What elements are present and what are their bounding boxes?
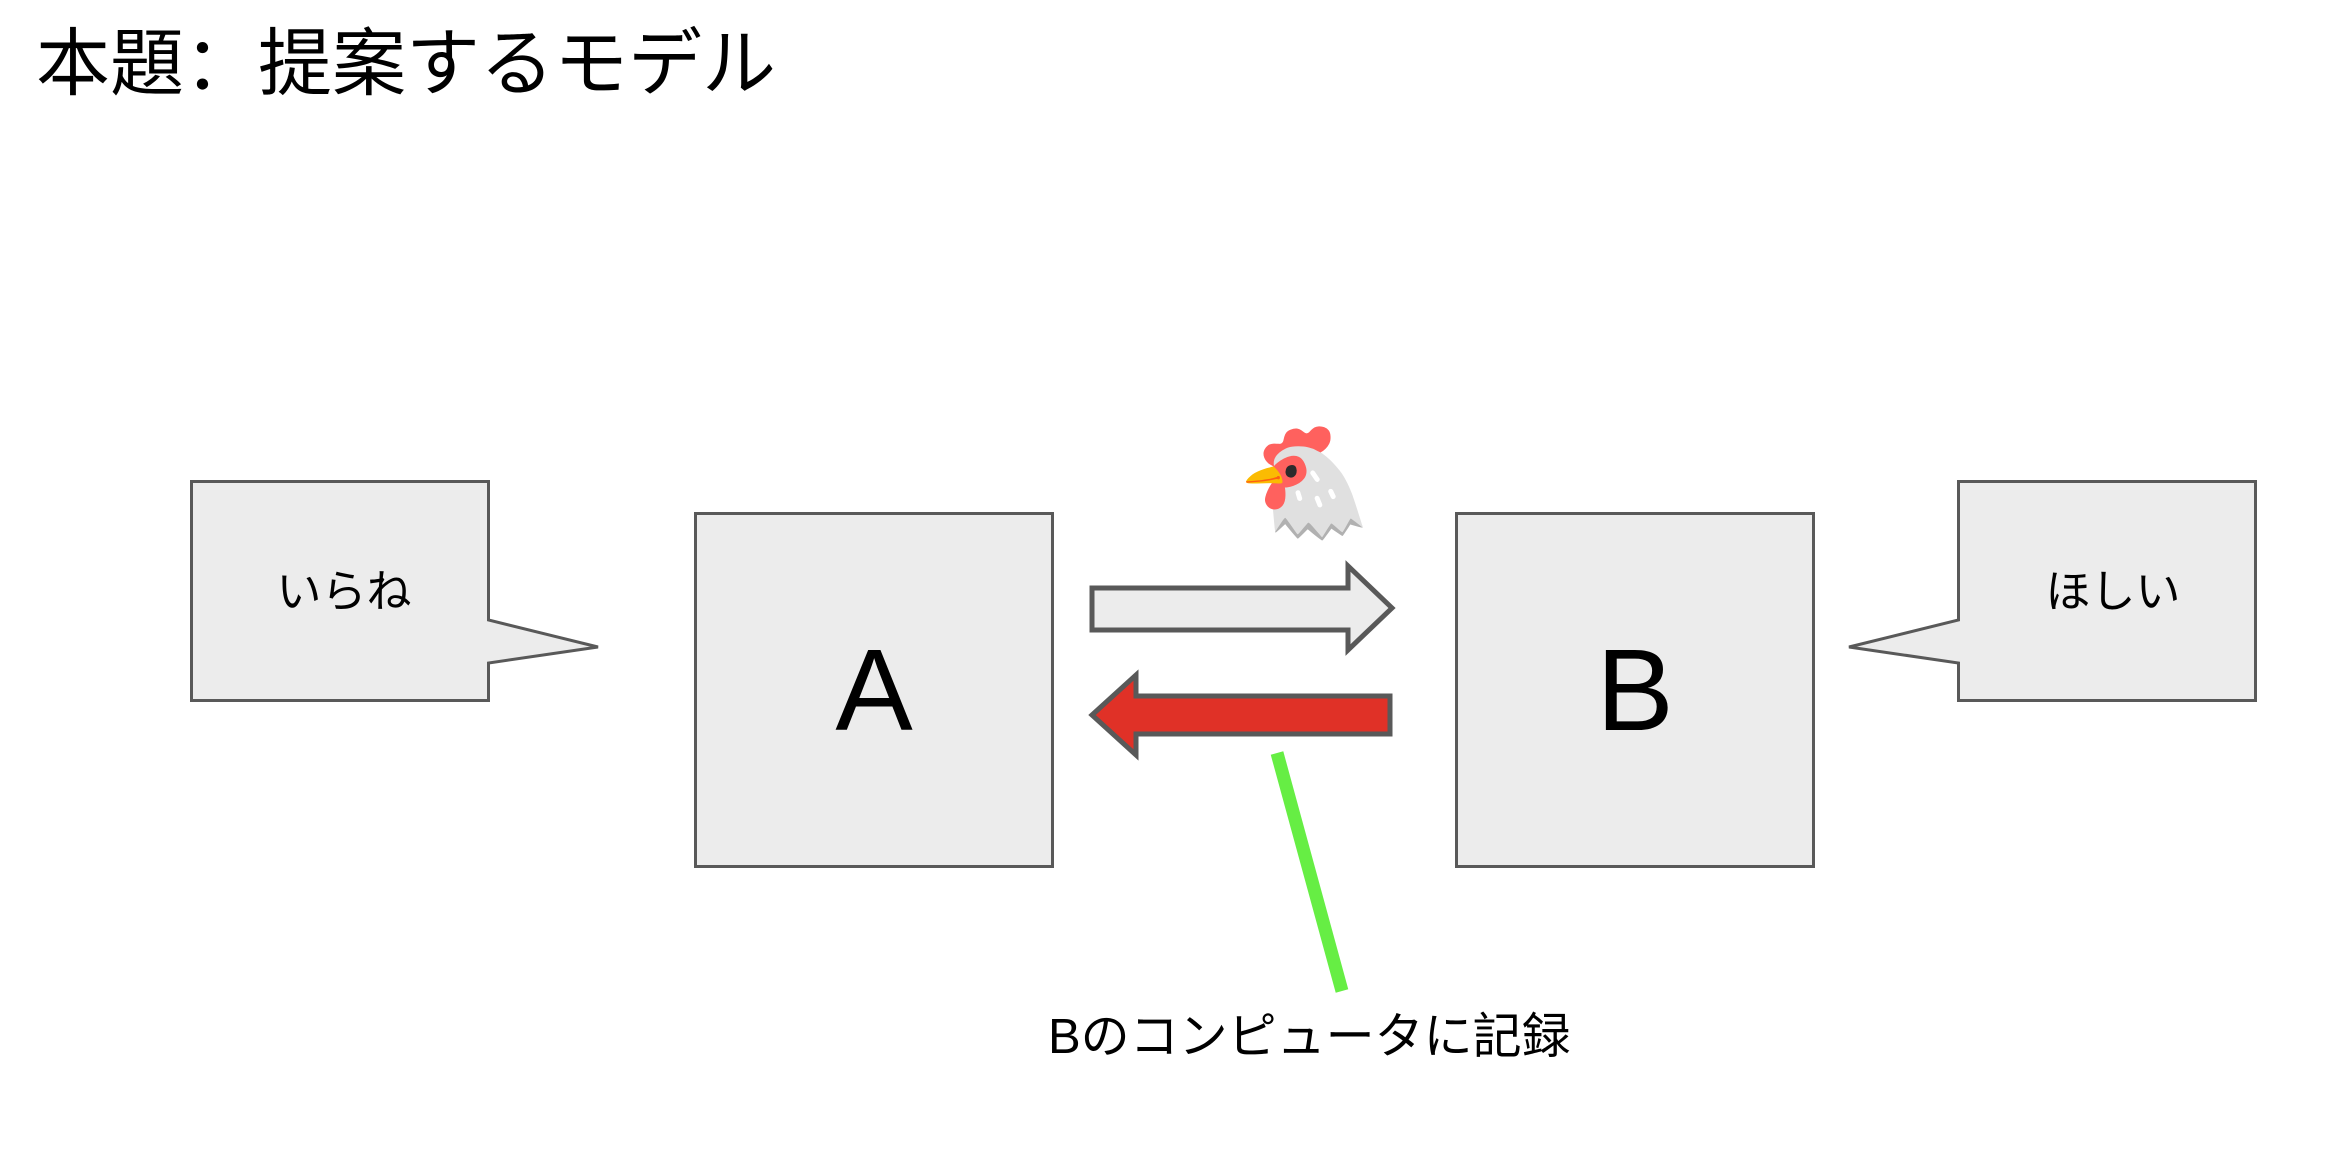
arrow-b-to-a-icon: [1092, 675, 1390, 755]
speech-bubble-left: いらね: [190, 480, 490, 702]
record-connector-line: [1277, 753, 1342, 991]
speech-bubble-right-shape: [1957, 480, 2257, 702]
speech-bubble-right: ほしい: [1957, 480, 2257, 702]
arrow-a-to-b-icon: [1092, 566, 1392, 650]
entity-box-a: A: [694, 512, 1054, 868]
speech-bubble-left-shape: [190, 480, 490, 702]
entity-box-b: B: [1455, 512, 1815, 868]
record-caption: Bのコンピュータに記録: [1048, 1008, 1571, 1067]
entity-box-a-label: A: [835, 632, 912, 748]
chicken-icon: 🐔: [1237, 428, 1353, 558]
page-title: 本題：提案するモデル: [36, 18, 776, 111]
slide-canvas: 本題：提案するモデル いらね ほしい A B 🐔 Bのコンピュータに記録: [0, 0, 2328, 1158]
entity-box-b-label: B: [1596, 632, 1673, 748]
